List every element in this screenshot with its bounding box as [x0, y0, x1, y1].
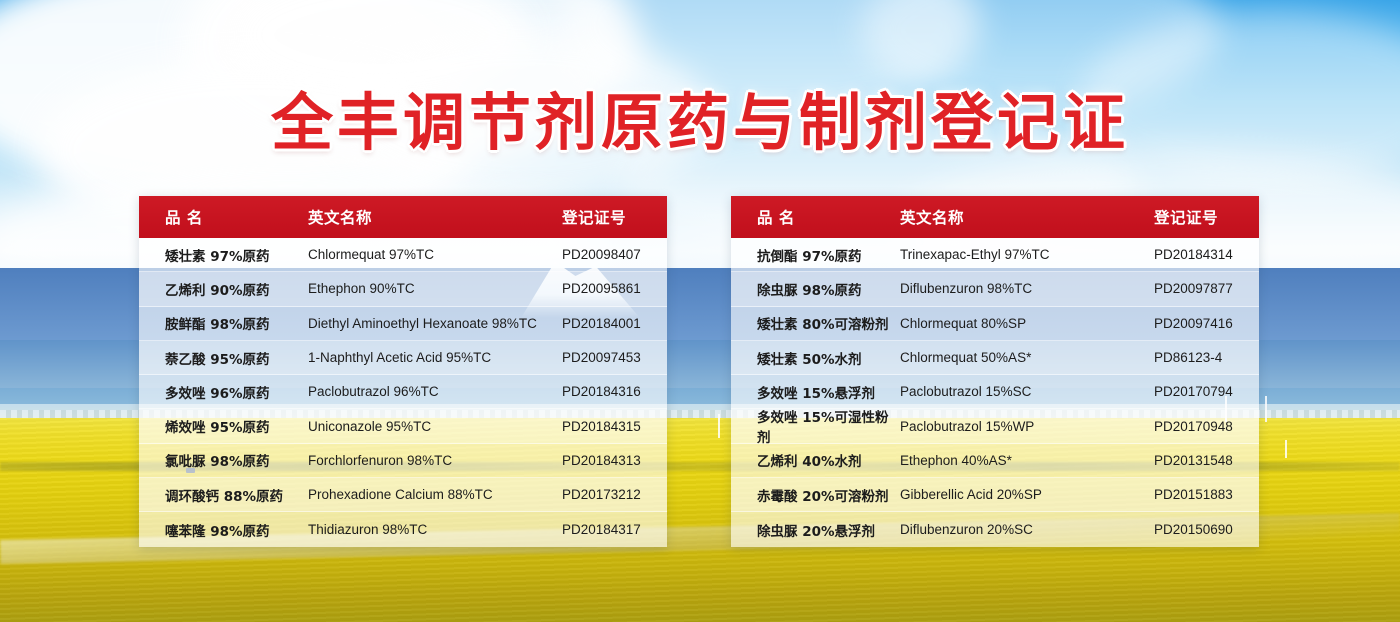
- cell-registration-no: PD86123-4: [1154, 350, 1259, 365]
- cell-english-name: Ethephon 40%AS*: [900, 453, 1154, 468]
- cell-product-name: 矮壮素 97%原药: [139, 245, 308, 265]
- table-row: 矮壮素 50%水剂Chlormequat 50%AS*PD86123-4: [731, 341, 1259, 375]
- column-header-product-name: 品 名: [139, 206, 308, 228]
- table-row: 烯效唑 95%原药Uniconazole 95%TCPD20184315: [139, 409, 667, 443]
- cell-registration-no: PD20184001: [562, 316, 667, 331]
- cell-product-name: 矮壮素 50%水剂: [731, 348, 900, 368]
- table-row: 胺鲜酯 98%原药Diethyl Aminoethyl Hexanoate 98…: [139, 307, 667, 341]
- utility-pole: [718, 414, 720, 438]
- cell-english-name: Chlormequat 50%AS*: [900, 350, 1154, 365]
- cell-english-name: Trinexapac-Ethyl 97%TC: [900, 247, 1154, 262]
- registration-table-right: 品 名 英文名称 登记证号 抗倒酯 97%原药Trinexapac-Ethyl …: [731, 196, 1259, 547]
- cell-product-name: 萘乙酸 95%原药: [139, 348, 308, 368]
- table-row: 除虫脲 98%原药Diflubenzuron 98%TCPD20097877: [731, 272, 1259, 306]
- table-row: 矮壮素 97%原药Chlormequat 97%TCPD20098407: [139, 238, 667, 272]
- cell-english-name: 1-Naphthyl Acetic Acid 95%TC: [308, 350, 562, 365]
- column-header-registration-no: 登记证号: [562, 206, 667, 228]
- cell-registration-no: PD20184315: [562, 419, 667, 434]
- column-header-product-name: 品 名: [731, 206, 900, 228]
- table-row: 除虫脲 20%悬浮剂Diflubenzuron 20%SCPD20150690: [731, 512, 1259, 546]
- table-row: 多效唑 96%原药Paclobutrazol 96%TCPD20184316: [139, 375, 667, 409]
- cell-product-name: 乙烯利 40%水剂: [731, 450, 900, 470]
- cell-product-name: 胺鲜酯 98%原药: [139, 313, 308, 333]
- cell-registration-no: PD20151883: [1154, 487, 1259, 502]
- column-header-english-name: 英文名称: [900, 206, 1154, 228]
- table-row: 噻苯隆 98%原药Thidiazuron 98%TCPD20184317: [139, 512, 667, 546]
- cell-product-name: 氯吡脲 98%原药: [139, 450, 308, 470]
- cell-english-name: Uniconazole 95%TC: [308, 419, 562, 434]
- column-header-registration-no: 登记证号: [1154, 206, 1259, 228]
- cell-registration-no: PD20097416: [1154, 316, 1259, 331]
- cell-english-name: Gibberellic Acid 20%SP: [900, 487, 1154, 502]
- cell-english-name: Paclobutrazol 15%SC: [900, 384, 1154, 399]
- table-header-row: 品 名 英文名称 登记证号: [731, 196, 1259, 238]
- registration-table-left: 品 名 英文名称 登记证号 矮壮素 97%原药Chlormequat 97%TC…: [139, 196, 667, 547]
- cell-registration-no: PD20184313: [562, 453, 667, 468]
- cell-registration-no: PD20170794: [1154, 384, 1259, 399]
- cell-product-name: 多效唑 96%原药: [139, 382, 308, 402]
- table-row: 氯吡脲 98%原药Forchlorfenuron 98%TCPD20184313: [139, 444, 667, 478]
- table-row: 多效唑 15%可湿性粉剂Paclobutrazol 15%WPPD2017094…: [731, 409, 1259, 443]
- cell-registration-no: PD20095861: [562, 281, 667, 296]
- cell-product-name: 噻苯隆 98%原药: [139, 520, 308, 540]
- cell-registration-no: PD20184314: [1154, 247, 1259, 262]
- cell-registration-no: PD20150690: [1154, 522, 1259, 537]
- cell-registration-no: PD20131548: [1154, 453, 1259, 468]
- page-title: 全丰调节剂原药与制剂登记证: [0, 72, 1400, 162]
- table-body: 抗倒酯 97%原药Trinexapac-Ethyl 97%TCPD2018431…: [731, 238, 1259, 547]
- cell-english-name: Diflubenzuron 20%SC: [900, 522, 1154, 537]
- table-row: 矮壮素 80%可溶粉剂Chlormequat 80%SPPD20097416: [731, 307, 1259, 341]
- cell-registration-no: PD20097453: [562, 350, 667, 365]
- utility-pole: [1285, 440, 1287, 458]
- cell-product-name: 赤霉酸 20%可溶粉剂: [731, 485, 900, 505]
- cell-product-name: 乙烯利 90%原药: [139, 279, 308, 299]
- cell-product-name: 烯效唑 95%原药: [139, 416, 308, 436]
- table-row: 抗倒酯 97%原药Trinexapac-Ethyl 97%TCPD2018431…: [731, 238, 1259, 272]
- cell-english-name: Diflubenzuron 98%TC: [900, 281, 1154, 296]
- cell-english-name: Diethyl Aminoethyl Hexanoate 98%TC: [308, 316, 562, 331]
- cell-english-name: Chlormequat 97%TC: [308, 247, 562, 262]
- table-row: 乙烯利 40%水剂Ethephon 40%AS*PD20131548: [731, 444, 1259, 478]
- cell-product-name: 抗倒酯 97%原药: [731, 245, 900, 265]
- cell-registration-no: PD20097877: [1154, 281, 1259, 296]
- cell-product-name: 除虫脲 20%悬浮剂: [731, 520, 900, 540]
- cell-english-name: Ethephon 90%TC: [308, 281, 562, 296]
- cell-product-name: 多效唑 15%可湿性粉剂: [731, 406, 900, 446]
- cell-english-name: Forchlorfenuron 98%TC: [308, 453, 562, 468]
- table-row: 乙烯利 90%原药Ethephon 90%TCPD20095861: [139, 272, 667, 306]
- cell-english-name: Paclobutrazol 15%WP: [900, 419, 1154, 434]
- cell-registration-no: PD20184317: [562, 522, 667, 537]
- table-row: 萘乙酸 95%原药1-Naphthyl Acetic Acid 95%TCPD2…: [139, 341, 667, 375]
- cell-registration-no: PD20184316: [562, 384, 667, 399]
- utility-pole: [1265, 396, 1267, 422]
- table-row: 多效唑 15%悬浮剂Paclobutrazol 15%SCPD20170794: [731, 375, 1259, 409]
- cell-english-name: Chlormequat 80%SP: [900, 316, 1154, 331]
- cell-product-name: 除虫脲 98%原药: [731, 279, 900, 299]
- table-body: 矮壮素 97%原药Chlormequat 97%TCPD20098407乙烯利 …: [139, 238, 667, 547]
- cell-english-name: Thidiazuron 98%TC: [308, 522, 562, 537]
- table-row: 调环酸钙 88%原药Prohexadione Calcium 88%TCPD20…: [139, 478, 667, 512]
- cell-english-name: Paclobutrazol 96%TC: [308, 384, 562, 399]
- cell-product-name: 多效唑 15%悬浮剂: [731, 382, 900, 402]
- cell-product-name: 矮壮素 80%可溶粉剂: [731, 313, 900, 333]
- cell-product-name: 调环酸钙 88%原药: [139, 485, 308, 505]
- column-header-english-name: 英文名称: [308, 206, 562, 228]
- cell-registration-no: PD20170948: [1154, 419, 1259, 434]
- cell-english-name: Prohexadione Calcium 88%TC: [308, 487, 562, 502]
- table-row: 赤霉酸 20%可溶粉剂Gibberellic Acid 20%SPPD20151…: [731, 478, 1259, 512]
- table-header-row: 品 名 英文名称 登记证号: [139, 196, 667, 238]
- cell-registration-no: PD20098407: [562, 247, 667, 262]
- cell-registration-no: PD20173212: [562, 487, 667, 502]
